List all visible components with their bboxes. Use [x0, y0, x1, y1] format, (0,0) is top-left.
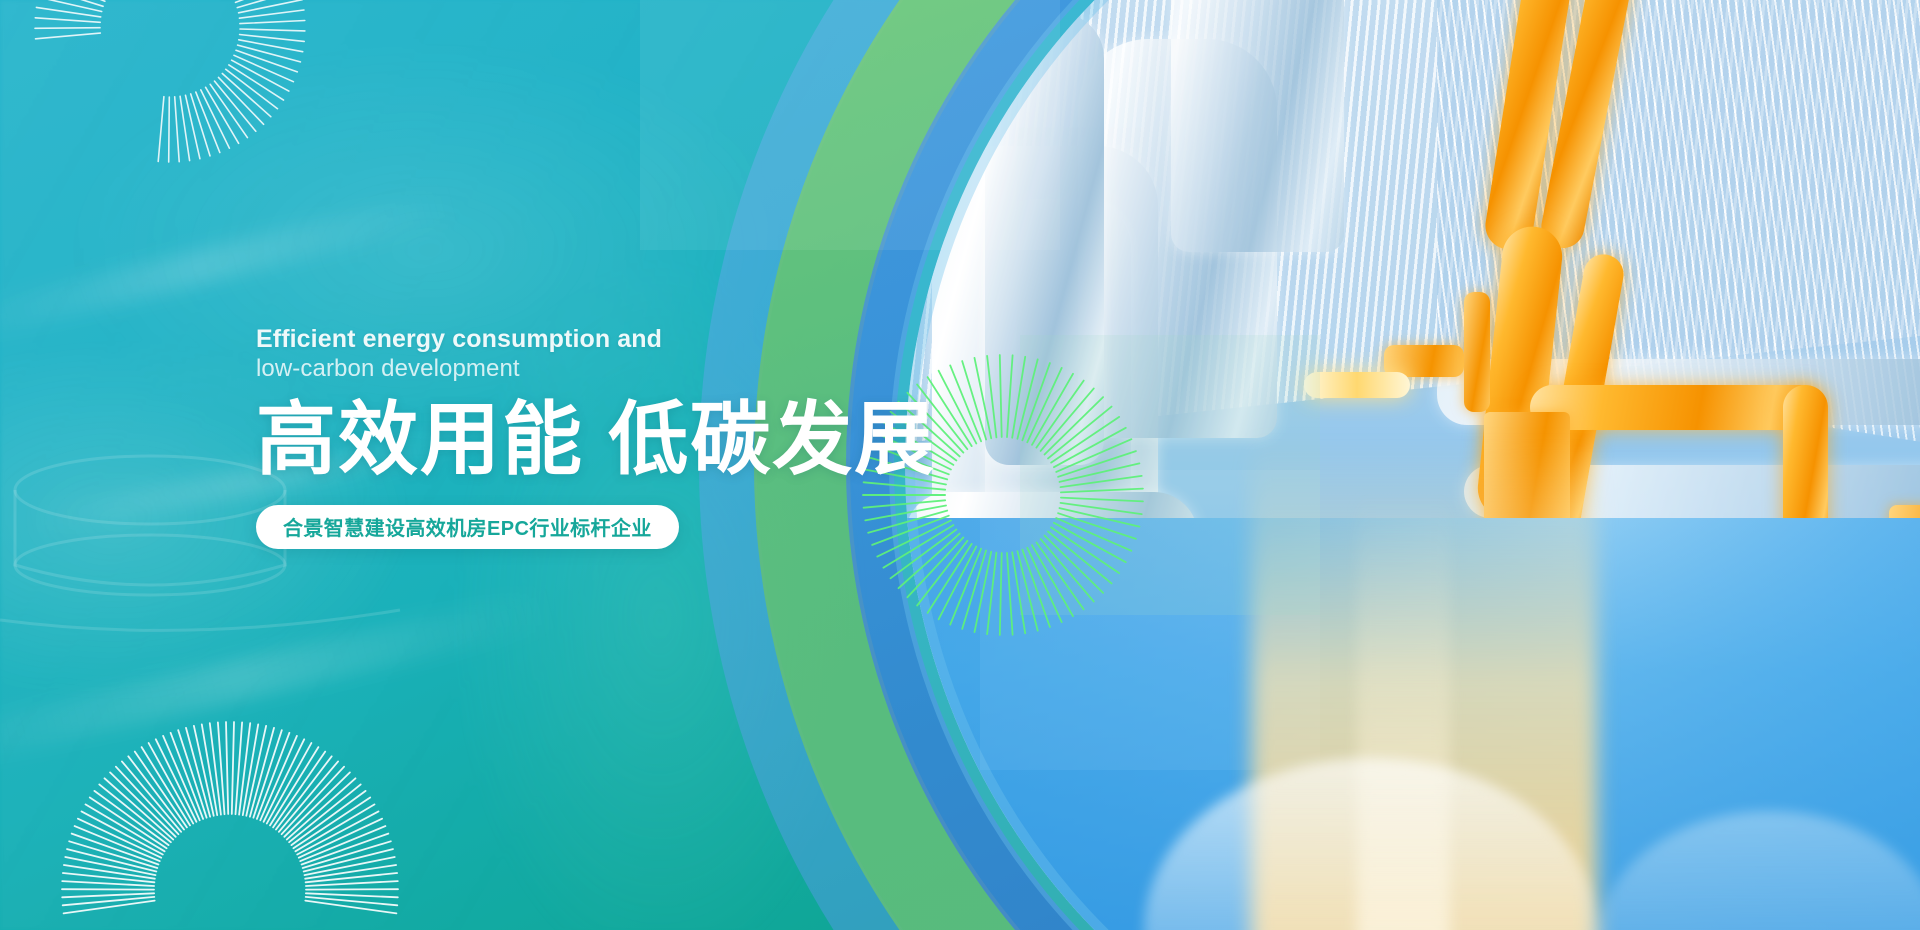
page-title: 高效用能 低碳发展 — [256, 397, 1016, 483]
hero-banner: Efficient energy consumption and low-car… — [0, 0, 1920, 930]
tagline-pill[interactable]: 合景智慧建设高效机房EPC行业标杆企业 — [256, 505, 679, 549]
tagline-pill-label: 合景智慧建设高效机房EPC行业标杆企业 — [283, 512, 652, 541]
industrial-photo — [905, 0, 1920, 930]
hero-copy-block: Efficient energy consumption and low-car… — [256, 325, 1016, 549]
english-subtitle-line1: Efficient energy consumption and — [256, 325, 1016, 353]
english-subtitle-line2: low-carbon development — [256, 355, 1016, 383]
industrial-photo-circle — [905, 0, 1920, 930]
